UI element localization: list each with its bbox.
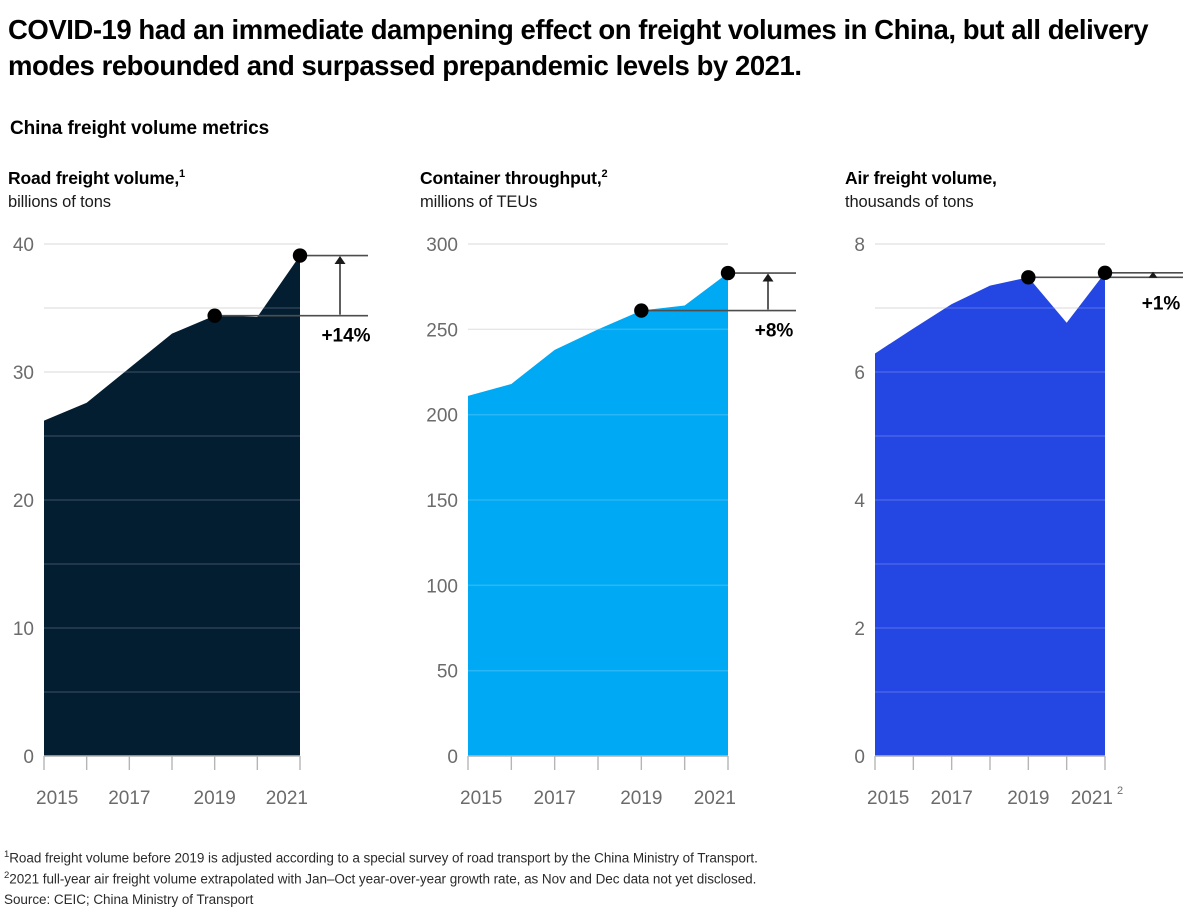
y-axis-tick-label: 40 [13,235,34,256]
y-axis-tick-label: 2 [854,619,865,640]
footnote-source: Source: CEIC; China Ministry of Transpor… [4,890,1104,911]
x-axis-label: 2017 [534,788,576,809]
y-axis-tick-label: 6 [854,363,865,384]
y-axis-tick-label: 0 [854,747,865,768]
chart-svg-container-throughput: +8%0501001502002503002015201720192021 [420,230,820,840]
y-axis-tick-label: 10 [13,619,34,640]
y-axis-tick-label: 30 [13,363,34,384]
data-marker-2021 [293,248,307,262]
page-subhead: China freight volume metrics [10,118,269,140]
y-axis-tick-label: 100 [426,576,458,597]
chart-title-superscript-1: 2 [602,168,608,180]
y-axis-tick-label: 0 [23,747,34,768]
chart-panel-road-freight-volume: Road freight volume,1 billions of tons +… [8,168,408,828]
x-axis-label: 2021 [1071,788,1113,809]
x-axis-label: 2015 [36,788,78,809]
chart-panel-container-throughput: Container throughput,2 millions of TEUs … [420,168,820,828]
y-axis-tick-label: 50 [437,662,458,683]
annotation-label-air-freight-volume: +1% [1142,293,1181,314]
annotation-label-container-throughput: +8% [755,321,794,342]
data-marker-2021 [721,266,735,280]
page-headline: COVID-19 had an immediate dampening effe… [8,12,1194,85]
footnote-2-text: 2021 full-year air freight volume extrap… [9,872,756,887]
chart-plot-road-freight-volume: +14%0102030402015201720192021 [8,230,408,840]
footnote-2: 22021 full-year air freight volume extra… [4,869,1104,890]
y-axis-tick-label: 300 [426,235,458,256]
area-series-air-freight-volume [875,273,1105,756]
annotation-arrow-head-up [763,274,774,282]
data-marker-2019 [634,303,648,317]
x-axis-label: 2015 [460,788,502,809]
footnote-1: 1Road freight volume before 2019 is adju… [4,848,1104,869]
x-axis-label-superscript: 2 [1117,785,1123,797]
chart-plot-container-throughput: +8%0501001502002503002015201720192021 [420,230,820,840]
y-axis-tick-label: 0 [447,747,458,768]
x-axis-label: 2015 [867,788,909,809]
annotation-arrow-head-up [335,256,346,264]
chart-svg-air-freight-volume: +1%0246820152017201920212 [845,230,1200,840]
infographic-page: COVID-19 had an immediate dampening effe… [0,0,1200,924]
x-axis-label: 2019 [194,788,236,809]
x-axis-label: 2017 [108,788,150,809]
chart-unit-2: thousands of tons [845,192,1200,213]
chart-title-superscript-0: 1 [179,168,185,180]
chart-unit-0: billions of tons [8,192,408,213]
y-axis-tick-label: 150 [426,491,458,512]
chart-title-2: Air freight volume, [845,168,1200,190]
y-axis-tick-label: 4 [854,491,865,512]
footnote-1-text: Road freight volume before 2019 is adjus… [9,851,758,866]
area-series-road-freight-volume [44,256,300,756]
x-axis-label: 2021 [266,788,308,809]
chart-plot-air-freight-volume: +1%0246820152017201920212 [845,230,1200,840]
annotation-label-road-freight-volume: +14% [321,326,370,347]
chart-unit-1: millions of TEUs [420,192,820,213]
y-axis-tick-label: 8 [854,235,865,256]
chart-title-0: Road freight volume,1 [8,168,408,190]
data-marker-2019 [207,308,221,322]
x-axis-label: 2019 [620,788,662,809]
chart-svg-road-freight-volume: +14%0102030402015201720192021 [8,230,408,840]
data-marker-2019 [1021,270,1035,284]
x-axis-label: 2017 [931,788,973,809]
area-series-container-throughput [468,273,728,756]
x-axis-label: 2021 [694,788,736,809]
y-axis-tick-label: 20 [13,491,34,512]
x-axis-label: 2019 [1007,788,1049,809]
chart-title-1: Container throughput,2 [420,168,820,190]
y-axis-tick-label: 200 [426,406,458,427]
data-marker-2021 [1098,266,1112,280]
chart-panel-air-freight-volume: Air freight volume, thousands of tons +1… [845,168,1200,828]
y-axis-tick-label: 250 [426,320,458,341]
footnotes: 1Road freight volume before 2019 is adju… [4,848,1104,911]
